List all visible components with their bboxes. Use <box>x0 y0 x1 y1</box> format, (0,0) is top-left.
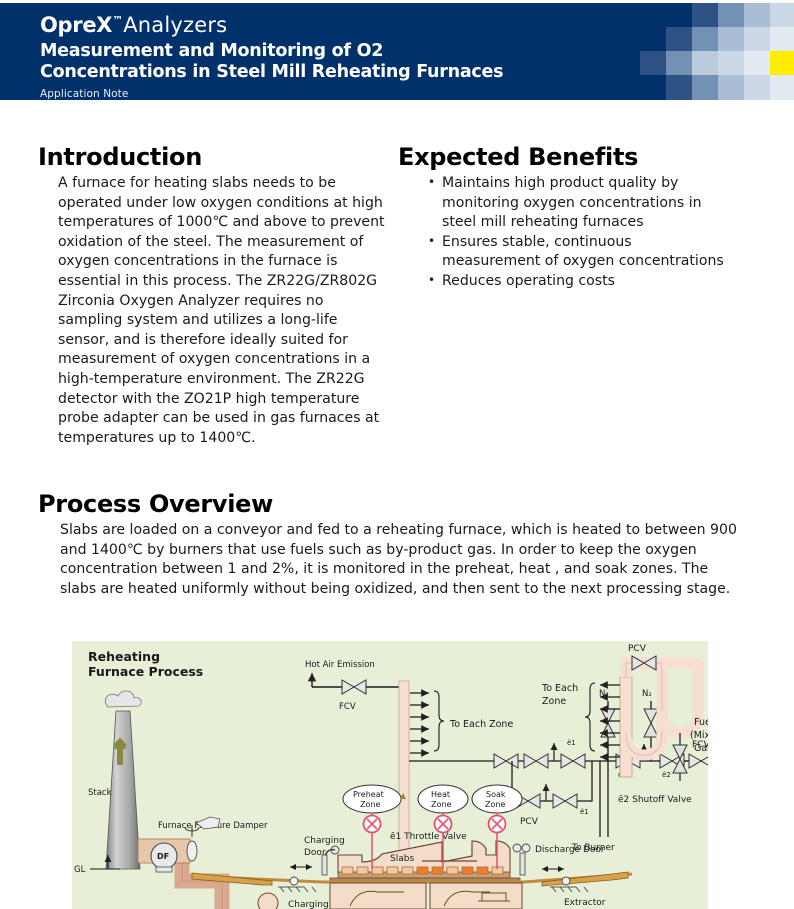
label-preheat-zone-1: Preheat <box>353 790 384 799</box>
mosaic-tile-2 <box>692 3 718 28</box>
mosaic-tile-6 <box>640 27 666 52</box>
mosaic-tile-18 <box>640 75 666 100</box>
burner-tiles-group <box>342 867 503 874</box>
mosaic-tile-17 <box>770 51 794 76</box>
mosaic-tile-1 <box>666 3 692 28</box>
expected-benefits-section: Expected Benefits Maintains high product… <box>398 143 728 292</box>
mosaic-tile-12 <box>640 51 666 76</box>
mosaic-tile-10 <box>744 27 770 52</box>
expected-benefits-list: Maintains high product quality by monito… <box>398 174 728 292</box>
furnace-body-group: Slabs <box>330 841 520 883</box>
charging-door-group: Charging Door <box>290 836 345 875</box>
label-soak-zone-1: Soak <box>486 790 506 799</box>
process-overview-heading: Process Overview <box>38 490 738 518</box>
introduction-section: Introduction A furnace for heating slabs… <box>38 143 390 448</box>
mosaic-tile-19 <box>666 75 692 100</box>
benefit-item-0: Maintains high product quality by monito… <box>428 174 728 233</box>
expected-benefits-heading: Expected Benefits <box>398 143 728 171</box>
benefit-item-2: Reduces operating costs <box>428 272 728 292</box>
recuperator-chambers-group <box>330 883 522 909</box>
label-slabs: Slabs <box>390 854 414 864</box>
label-soak-zone-2: Zone <box>485 800 505 809</box>
page-header: OpreX™Analyzers Measurement and Monitori… <box>0 3 794 100</box>
introduction-body: A furnace for heating slabs needs to be … <box>58 174 390 448</box>
mosaic-tile-23 <box>770 75 794 100</box>
process-overview-body: Slabs are loaded on a conveyor and fed t… <box>60 521 738 599</box>
mosaic-tile-8 <box>692 27 718 52</box>
mosaic-tile-15 <box>718 51 744 76</box>
reheating-furnace-process-diagram: Reheating Furnace Process <box>72 641 708 909</box>
benefit-item-1: Ensures stable, continuous measurement o… <box>428 233 728 272</box>
mosaic-tile-4 <box>744 3 770 28</box>
label-extractor: Extractor <box>564 898 606 908</box>
application-note-page: OpreX™Analyzers Measurement and Monitori… <box>0 0 794 909</box>
document-kicker: Application Note <box>40 88 503 100</box>
mosaic-tile-9 <box>718 27 744 52</box>
discharge-door-group: Discharge Door <box>513 844 605 875</box>
header-mosaic-graphic <box>640 3 794 100</box>
label-heat-zone-2: Zone <box>431 800 451 809</box>
mosaic-tile-13 <box>666 51 692 76</box>
mosaic-tile-22 <box>744 75 770 100</box>
mosaic-tile-7 <box>666 27 692 52</box>
brand-product-line: Analyzers <box>123 13 227 37</box>
mosaic-tile-16 <box>744 51 770 76</box>
brand-name: OpreX <box>40 13 112 37</box>
mosaic-tile-0 <box>640 3 666 28</box>
mosaic-tile-3 <box>718 3 744 28</box>
label-preheat-zone-2: Zone <box>360 800 380 809</box>
label-heat-zone-1: Heat <box>431 790 450 799</box>
label-discharge-door: Discharge Door <box>535 845 605 855</box>
mosaic-tile-20 <box>692 75 718 100</box>
mosaic-tile-14 <box>692 51 718 76</box>
label-charging: Charging <box>288 900 329 909</box>
mosaic-tile-21 <box>718 75 744 100</box>
trademark-icon: ™ <box>112 14 123 27</box>
diagram-canvas-furnace: Slabs Preheat Zone Heat Zone <box>72 641 708 909</box>
mosaic-tile-5 <box>770 3 794 28</box>
document-title-line1: Measurement and Monitoring of O2 <box>40 41 503 62</box>
introduction-heading: Introduction <box>38 143 390 171</box>
document-title-line2: Concentrations in Steel Mill Reheating F… <box>40 62 503 83</box>
mosaic-tile-11 <box>770 27 794 52</box>
label-charging-door-1: Charging <box>304 836 345 846</box>
header-text-block: OpreX™Analyzers Measurement and Monitori… <box>40 9 503 100</box>
brand-lockup: OpreX™Analyzers <box>40 9 503 37</box>
process-overview-section: Process Overview Slabs are loaded on a c… <box>38 490 738 599</box>
